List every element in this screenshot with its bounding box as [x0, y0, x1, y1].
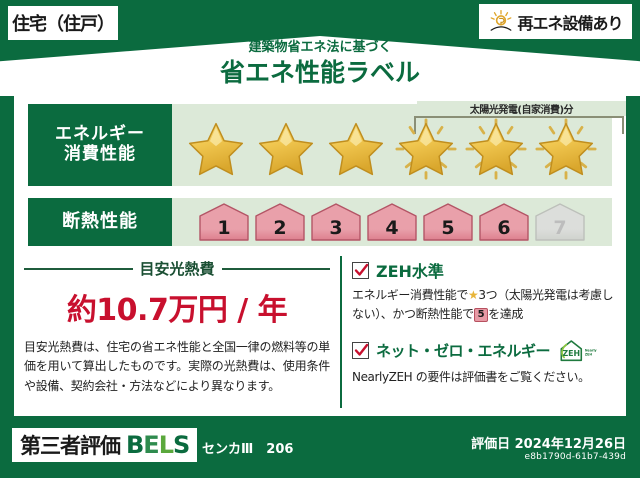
insulation-level-chip: 3 [310, 202, 362, 242]
house-type-badge: 住宅（住戸） [8, 6, 118, 40]
zeh-standard-title: ZEH水準 [376, 258, 444, 282]
energy-star-rating [172, 118, 600, 180]
label-footer: 第三者評価 BELS センカⅢ 206 評価日 2024年12月26日 e8b1… [0, 420, 640, 478]
utility-cost-title: 目安光熱費 [140, 258, 215, 279]
renewable-equipment-badge: 再エネ設備あり [479, 4, 632, 39]
label-title-sub: 建築物省エネ法に基づく [0, 40, 640, 56]
energy-performance-field: 太陽光発電(自家消費)分 [172, 104, 612, 186]
insulation-level-chip: 6 [478, 202, 530, 242]
insulation-level-chip: 2 [254, 202, 306, 242]
insulation-level-chip: 1 [198, 202, 250, 242]
zeh-standard-heading: ZEH水準 [352, 258, 614, 282]
insulation-level-number: 3 [329, 217, 342, 239]
label-title-main: 省エネ性能ラベル [0, 57, 640, 89]
zeh-block: ZEH水準 エネルギー消費性能で★3つ（太陽光発電は考慮しない）、かつ断熱性能で… [352, 258, 614, 387]
star-icon [322, 118, 390, 180]
bels-logo: BELS [126, 431, 189, 459]
net-zero-checkbox[interactable] [352, 342, 369, 359]
energy-performance-row: エネルギー 消費性能 太陽光発電(自家消費)分 [28, 104, 612, 186]
house-type-badge-label: 住宅（住戸） [12, 10, 114, 36]
inline-insulation-chip: 5 [474, 308, 489, 322]
star-icon [252, 118, 320, 180]
insulation-level-chip: 7 [534, 202, 586, 242]
energy-performance-caption: エネルギー 消費性能 [28, 104, 172, 186]
insulation-level-number: 7 [553, 217, 566, 239]
inline-star-icon: ★ [468, 288, 478, 302]
bels-logo-letter: B [126, 431, 143, 459]
insulation-caption-label: 断熱性能 [62, 212, 138, 233]
renewable-badge-label: 再エネ設備あり [517, 10, 622, 34]
insulation-level-chips: 1234567 [172, 202, 586, 242]
zeh-desc-part1: エネルギー消費性能で [352, 288, 468, 302]
evaluation-date: 評価日 2024年12月26日 [471, 433, 626, 452]
insulation-level-number: 4 [385, 217, 398, 239]
bels-plate: 第三者評価 BELS [12, 428, 197, 462]
utility-cost-note: 目安光熱費は、住宅の省エネ性能と全国一律の燃料等の単価を用いて算出したものです。… [24, 338, 330, 396]
insulation-level-number: 1 [217, 217, 230, 239]
net-zero-energy-heading: ネット・ゼロ・エネルギー ZEH Nearly ZEH [352, 338, 614, 364]
label-title: 建築物省エネ法に基づく 省エネ性能ラベル [0, 40, 640, 89]
utility-cost-heading: 目安光熱費 [24, 258, 330, 279]
utility-cost-block: 目安光熱費 約10.7万円 / 年 目安光熱費は、住宅の省エネ性能と全国一律の燃… [24, 258, 330, 396]
insulation-level-number: 5 [441, 217, 454, 239]
energy-caption-line1: エネルギー [55, 125, 145, 145]
evaluation-id: e8b1790d-61b7-439d [525, 452, 626, 462]
star-icon [182, 118, 250, 180]
net-zero-title: ネット・ゼロ・エネルギー [376, 340, 550, 361]
utility-cost-value: 約10.7万円 / 年 [24, 285, 330, 329]
check-icon [354, 343, 369, 358]
insulation-level-number: 6 [497, 217, 510, 239]
zeh-house-logo-icon: ZEH Nearly ZEH [557, 338, 597, 364]
energy-performance-label: 住宅（住戸） 再エネ設備あり 建築物省エネ法に基づく 省エネ性能ラベル エネルギ… [0, 0, 640, 478]
energy-caption-line2: 消費性能 [64, 145, 136, 165]
star-icon [532, 118, 600, 180]
sun-icon [488, 9, 514, 35]
insulation-performance-row: 断熱性能 1234567 [28, 198, 612, 246]
bels-logo-letter: L [159, 431, 173, 459]
vertical-divider [340, 256, 342, 408]
bels-logo-letter: E [143, 431, 158, 459]
svg-text:ZEH: ZEH [585, 352, 593, 356]
check-icon [354, 263, 369, 278]
solar-generation-bracket-label: 太陽光発電(自家消費)分 [417, 101, 626, 116]
bels-third-party-label: 第三者評価 [20, 430, 120, 460]
insulation-performance-field: 1234567 [172, 198, 612, 246]
rule-right [222, 268, 331, 270]
star-icon [392, 118, 460, 180]
insulation-performance-caption: 断熱性能 [28, 198, 172, 246]
zeh-desc-part3: を達成 [488, 307, 523, 321]
insulation-level-chip: 5 [422, 202, 474, 242]
rule-left [24, 268, 133, 270]
bels-logo-letter: S [173, 431, 189, 459]
zeh-standard-checkbox[interactable] [352, 262, 369, 279]
star-icon [462, 118, 530, 180]
insulation-level-chip: 4 [366, 202, 418, 242]
svg-text:ZEH: ZEH [562, 349, 580, 358]
net-zero-description: NearlyZEH の要件は評価書をご覧ください。 [352, 368, 614, 387]
building-name: センカⅢ 206 [202, 438, 293, 457]
insulation-level-number: 2 [273, 217, 286, 239]
zeh-standard-description: エネルギー消費性能で★3つ（太陽光発電は考慮しない）、かつ断熱性能で5を達成 [352, 286, 614, 324]
